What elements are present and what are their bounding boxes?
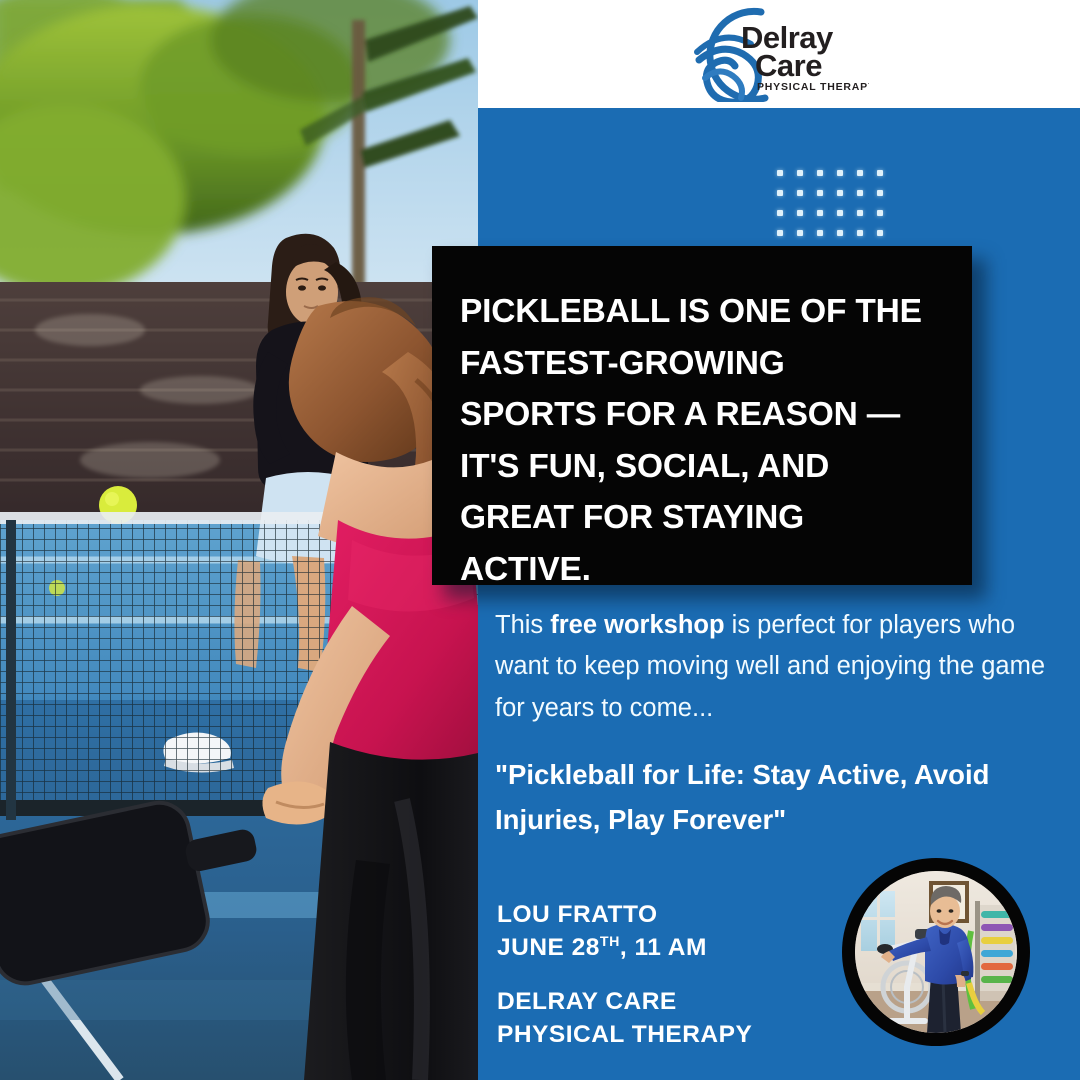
logo-header-band: Delray Care PHYSICAL THERAPY [478,0,1080,108]
presenter-date: JUNE 28TH, 11 AM [497,931,857,964]
body-paragraph-bold: free workshop [550,611,724,639]
presenter-details: LOU FRATTO JUNE 28TH, 11 AM [497,898,857,965]
body-copy: This free workshop is perfect for player… [495,605,1060,729]
dot-grid-decoration [777,170,897,236]
date-ordinal: TH [600,934,620,950]
body-paragraph: This free workshop is perfect for player… [495,605,1060,729]
dot [777,210,783,216]
org-line-2: PHYSICAL THERAPY [497,1018,877,1051]
dot [877,190,883,196]
organization-name: DELRAY CARE PHYSICAL THERAPY [497,985,877,1052]
headline-box: Pickleball is one of the fastest-growing… [432,246,972,585]
dot [777,190,783,196]
dot [837,230,843,236]
delray-care-logo: Delray Care PHYSICAL THERAPY [689,6,869,102]
pickleball-photo-illustration [0,0,478,1080]
dot [777,230,783,236]
headline-text: Pickleball is one of the fastest-growing… [460,286,930,595]
date-suffix: , 11 AM [620,934,707,961]
presenter-portrait [855,871,1017,1033]
dot [817,210,823,216]
dot [857,170,863,176]
dot [817,190,823,196]
dot [877,170,883,176]
dot [777,170,783,176]
dot [817,230,823,236]
presenter-portrait-badge [842,858,1030,1046]
body-paragraph-before: This [495,611,550,639]
pickleball-photo [0,0,478,1080]
logo-text-care: Care [755,48,822,83]
dot [797,230,803,236]
org-line-1: DELRAY CARE [497,985,877,1018]
dot [857,210,863,216]
dot [837,170,843,176]
dot [797,190,803,196]
workshop-title: "Pickleball for Life: Stay Active, Avoid… [495,752,1055,843]
poster-canvas: Delray Care PHYSICAL THERAPY [0,0,1080,1080]
dot [877,210,883,216]
dot [837,210,843,216]
dot [797,210,803,216]
dot [817,170,823,176]
presenter-name: LOU FRATTO [497,898,857,931]
dot [837,190,843,196]
dot [857,190,863,196]
logo-text-tagline: PHYSICAL THERAPY [757,81,869,93]
date-prefix: JUNE 28 [497,934,600,961]
presenter-portrait-illustration [855,871,1017,1033]
dot [877,230,883,236]
dot [797,170,803,176]
logo-mark-icon: Delray Care PHYSICAL THERAPY [689,6,869,102]
dot [857,230,863,236]
